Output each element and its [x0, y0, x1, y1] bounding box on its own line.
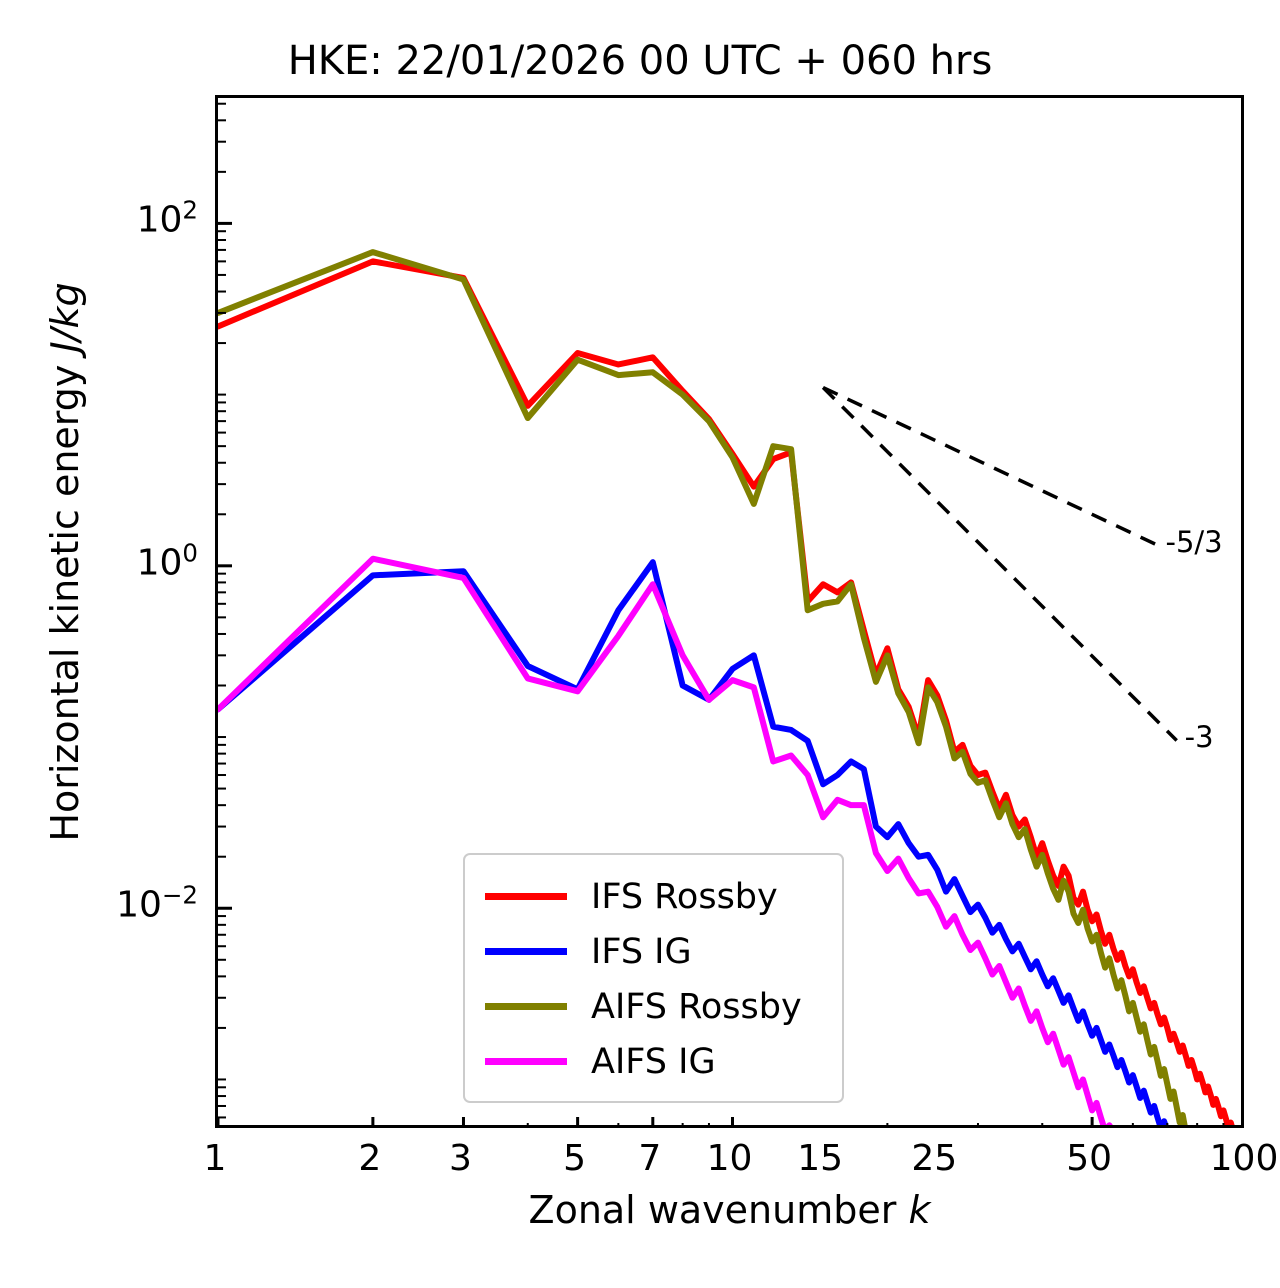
x-tick-label-1: 1 — [204, 1138, 227, 1179]
x-tick-label-100: 100 — [1210, 1138, 1279, 1179]
chart-title: HKE: 22/01/2026 00 UTC + 060 hrs — [0, 38, 1280, 84]
chart-legend: IFS Rossby IFS IG AIFS Rossby AIFS IG — [463, 853, 844, 1103]
legend-swatch-aifs-rossby — [485, 1003, 567, 1010]
reference-line-1 — [823, 388, 1177, 741]
y-axis-label-unit: J/kg — [43, 282, 87, 352]
x-axis-label-symbol: k — [908, 1188, 930, 1232]
x-tick-label-2: 2 — [358, 1138, 381, 1179]
x-axis-label-text: Zonal wavenumber — [529, 1188, 909, 1232]
reference-lines-group — [823, 388, 1177, 741]
x-tick-label-7: 7 — [638, 1138, 661, 1179]
legend-item[interactable]: AIFS IG — [465, 1034, 842, 1089]
x-tick-label-50: 50 — [1066, 1138, 1112, 1179]
legend-label-ifs-rossby: IFS Rossby — [591, 877, 778, 917]
reference-line-0 — [823, 388, 1157, 546]
legend-label-aifs-ig: AIFS IG — [591, 1042, 716, 1082]
chart-figure: HKE: 22/01/2026 00 UTC + 060 hrs IFS Ros… — [0, 0, 1280, 1288]
legend-swatch-ifs-rossby — [485, 893, 567, 900]
y-tick-label-2: 10−2 — [116, 885, 198, 926]
legend-item[interactable]: IFS Rossby — [465, 869, 842, 924]
legend-label-aifs-rossby: AIFS Rossby — [591, 987, 802, 1027]
x-tick-label-15: 15 — [797, 1138, 843, 1179]
legend-swatch-ifs-ig — [485, 948, 567, 955]
x-tick-label-25: 25 — [911, 1138, 957, 1179]
y-axis-label: Horizontal kinetic energy J/kg — [43, 192, 87, 932]
x-axis-label: Zonal wavenumber k — [215, 1188, 1244, 1232]
region-annotation: Midlatitudes: 40°N-60°N; 200-300 hPa — [446, 1126, 1116, 1128]
y-tick-marks — [218, 104, 232, 1128]
legend-item[interactable]: AIFS Rossby — [465, 979, 842, 1034]
legend-label-ifs-ig: IFS IG — [591, 932, 692, 972]
x-tick-label-5: 5 — [563, 1138, 586, 1179]
y-tick-label-1: 100 — [137, 542, 198, 583]
plot-area: IFS Rossby IFS IG AIFS Rossby AIFS IG Mi… — [215, 95, 1244, 1128]
slope-label-five-thirds: -5/3 — [1166, 525, 1223, 559]
legend-swatch-aifs-ig — [485, 1058, 567, 1065]
x-tick-label-3: 3 — [449, 1138, 472, 1179]
legend-item[interactable]: IFS IG — [465, 924, 842, 979]
y-axis-label-text: Horizontal kinetic energy — [43, 353, 87, 842]
x-tick-marks — [218, 1117, 1244, 1128]
slope-label-minus-three: -3 — [1185, 720, 1214, 754]
x-tick-label-10: 10 — [707, 1138, 753, 1179]
y-tick-label-0: 102 — [137, 200, 198, 241]
